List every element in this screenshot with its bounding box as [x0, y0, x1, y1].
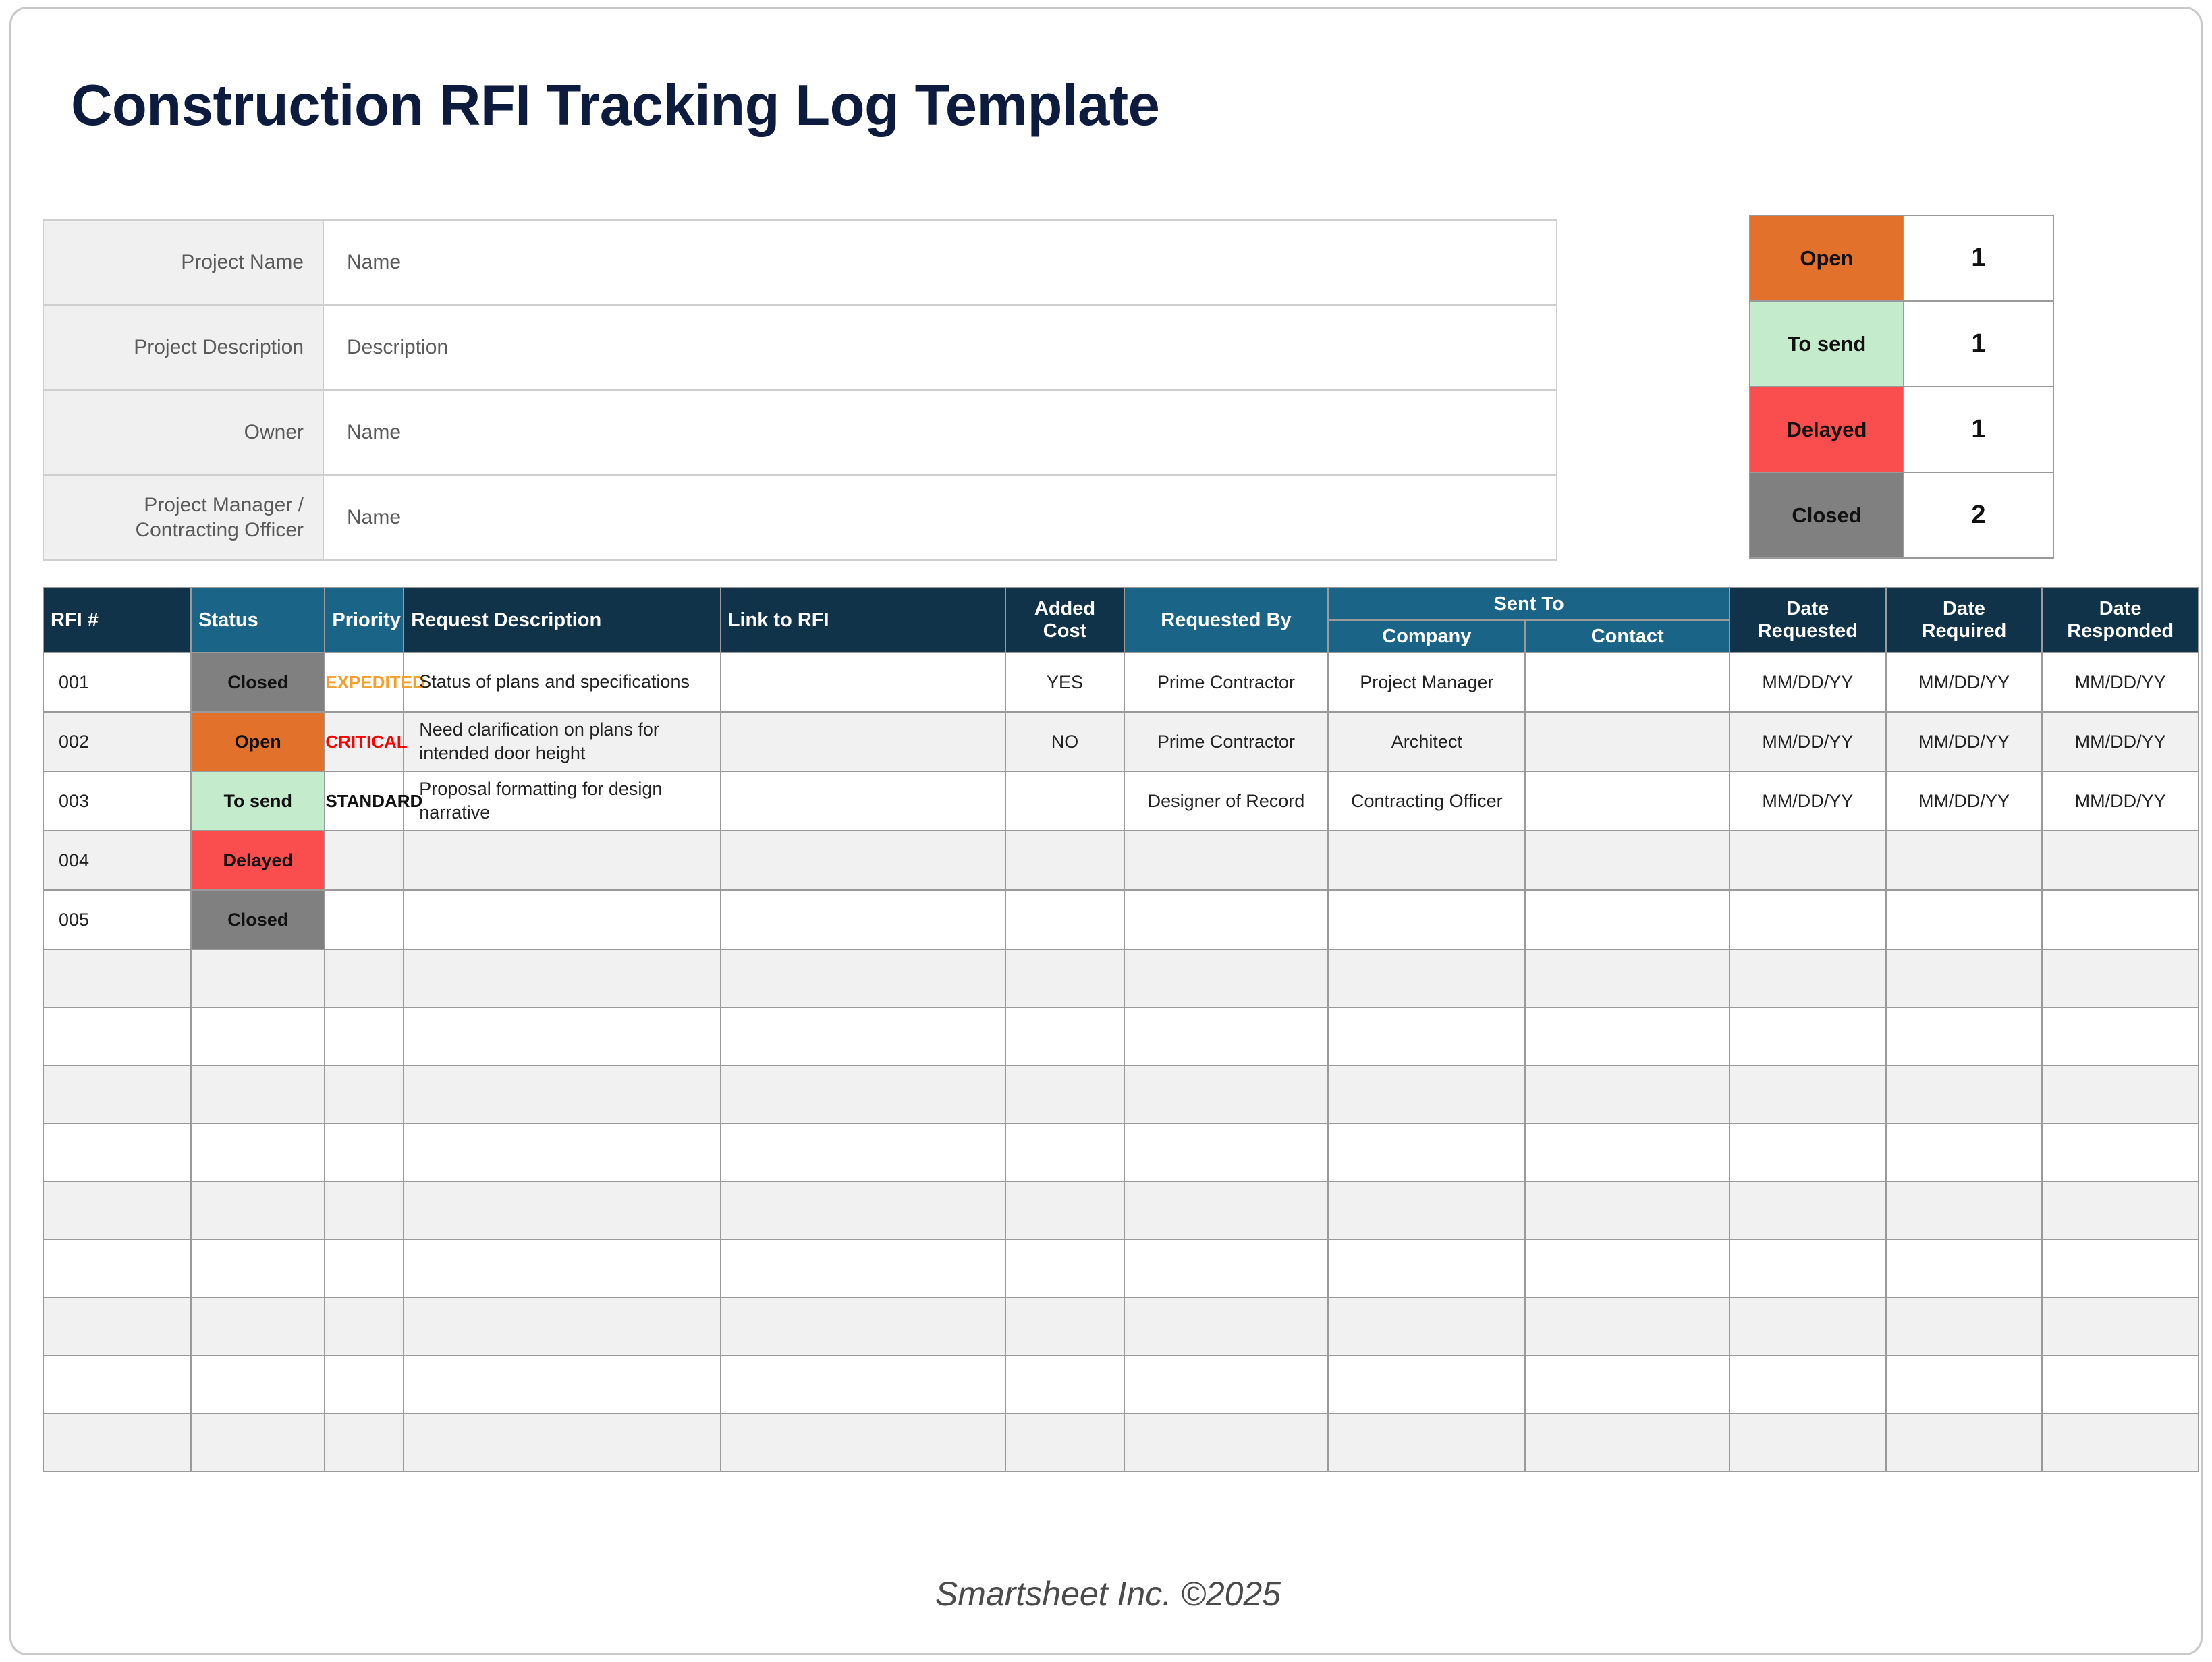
- cell-date-responded[interactable]: [2042, 949, 2199, 1007]
- cell-date-requested[interactable]: [1730, 1298, 1886, 1356]
- legend-row-closed: Closed 2: [1750, 472, 2053, 558]
- cell-added-cost[interactable]: [1005, 771, 1124, 831]
- cell-company[interactable]: [1328, 1182, 1525, 1240]
- cell-date-responded[interactable]: [2042, 1414, 2199, 1472]
- cell-requested-by[interactable]: [1124, 1182, 1329, 1240]
- header-contact[interactable]: Contact: [1525, 620, 1730, 653]
- cell-request-description[interactable]: Status of plans and specifications: [404, 653, 721, 712]
- cell-link-to-rfi[interactable]: [721, 831, 1006, 890]
- cell-contact[interactable]: [1525, 712, 1730, 771]
- cell-date-required[interactable]: [1886, 831, 2043, 890]
- legend-row-to-send: To send 1: [1750, 301, 2053, 387]
- header-priority[interactable]: Priority: [325, 588, 404, 653]
- cell-priority[interactable]: CRITICAL: [325, 712, 404, 771]
- cell-rfi-number[interactable]: [43, 1298, 191, 1356]
- cell-priority[interactable]: [325, 1414, 404, 1472]
- cell-priority[interactable]: [325, 1356, 404, 1414]
- header-sent-to[interactable]: Sent To: [1328, 588, 1730, 620]
- cell-contact[interactable]: [1525, 1124, 1730, 1182]
- cell-company[interactable]: [1328, 890, 1525, 949]
- header-date-required-l1: Date: [1943, 598, 1985, 619]
- cell-date-requested[interactable]: [1730, 1356, 1886, 1414]
- table-row: 004Delayed: [43, 831, 2199, 890]
- cell-link-to-rfi[interactable]: [721, 712, 1006, 771]
- cell-status[interactable]: [191, 1007, 325, 1065]
- cell-added-cost[interactable]: [1005, 1182, 1124, 1240]
- project-info-row: Project Name Name: [43, 220, 1557, 305]
- cell-contact[interactable]: [1525, 831, 1730, 890]
- cell-added-cost[interactable]: [1005, 1007, 1124, 1065]
- cell-status[interactable]: [191, 1182, 325, 1240]
- cell-link-to-rfi[interactable]: [721, 1182, 1006, 1240]
- cell-priority[interactable]: EXPEDITED: [325, 653, 404, 712]
- project-info-row: Owner Name: [43, 390, 1557, 475]
- table-row-empty: [43, 1124, 2199, 1182]
- cell-date-required[interactable]: [1886, 1240, 2043, 1298]
- legend-label-open: Open: [1750, 215, 1904, 301]
- cell-priority[interactable]: [325, 831, 404, 890]
- cell-link-to-rfi[interactable]: [721, 949, 1006, 1007]
- cell-date-responded[interactable]: [2042, 1356, 2199, 1414]
- cell-date-requested[interactable]: [1730, 1182, 1886, 1240]
- table-row-empty: [43, 1007, 2199, 1065]
- cell-date-responded[interactable]: MM/DD/YY: [2042, 653, 2199, 712]
- table-row: 002OpenCRITICALNeed clarification on pla…: [43, 712, 2199, 771]
- cell-status[interactable]: [191, 1065, 325, 1124]
- cell-status[interactable]: [191, 1240, 325, 1298]
- project-manager-label-l1: Project Manager /: [144, 494, 304, 516]
- cell-contact[interactable]: [1525, 1065, 1730, 1124]
- cell-requested-by[interactable]: Designer of Record: [1124, 771, 1329, 831]
- cell-contact[interactable]: [1525, 1356, 1730, 1414]
- cell-added-cost[interactable]: [1005, 949, 1124, 1007]
- cell-contact[interactable]: [1525, 949, 1730, 1007]
- cell-added-cost[interactable]: [1005, 831, 1124, 890]
- cell-rfi-number[interactable]: [43, 1414, 191, 1472]
- cell-requested-by[interactable]: [1124, 1240, 1329, 1298]
- cell-company[interactable]: [1328, 1356, 1525, 1414]
- cell-priority[interactable]: [325, 890, 404, 949]
- cell-rfi-number[interactable]: [43, 1356, 191, 1414]
- cell-date-requested[interactable]: MM/DD/YY: [1730, 653, 1886, 712]
- cell-requested-by[interactable]: [1124, 1007, 1329, 1065]
- cell-date-requested[interactable]: [1730, 1240, 1886, 1298]
- cell-status[interactable]: To send: [191, 771, 325, 831]
- cell-priority[interactable]: [325, 1124, 404, 1182]
- cell-requested-by[interactable]: [1124, 1124, 1329, 1182]
- rfi-header-row-1: RFI # Status Priority Request Descriptio…: [43, 588, 2199, 620]
- cell-date-required[interactable]: [1886, 949, 2043, 1007]
- rfi-table-body: 001ClosedEXPEDITEDStatus of plans and sp…: [43, 653, 2199, 1472]
- cell-link-to-rfi[interactable]: [721, 1298, 1006, 1356]
- cell-priority[interactable]: [325, 1007, 404, 1065]
- cell-requested-by[interactable]: [1124, 1356, 1329, 1414]
- cell-rfi-number[interactable]: 001: [43, 653, 191, 712]
- cell-company[interactable]: [1328, 949, 1525, 1007]
- project-name-value[interactable]: Name: [323, 220, 1557, 305]
- cell-link-to-rfi[interactable]: [721, 1240, 1006, 1298]
- cell-date-requested[interactable]: [1730, 949, 1886, 1007]
- legend-count-open: 1: [1904, 215, 2053, 301]
- cell-company[interactable]: Project Manager: [1328, 653, 1525, 712]
- cell-company[interactable]: [1328, 1007, 1525, 1065]
- header-request-description[interactable]: Request Description: [404, 588, 721, 653]
- cell-rfi-number[interactable]: 003: [43, 771, 191, 831]
- project-manager-label-l2: Contracting Officer: [135, 519, 304, 541]
- cell-rfi-number[interactable]: 004: [43, 831, 191, 890]
- cell-date-responded[interactable]: [2042, 1065, 2199, 1124]
- header-company[interactable]: Company: [1328, 620, 1525, 653]
- cell-date-required[interactable]: [1886, 1124, 2043, 1182]
- cell-link-to-rfi[interactable]: [721, 1065, 1006, 1124]
- status-badge: Delayed: [192, 831, 324, 889]
- cell-status[interactable]: Open: [191, 712, 325, 771]
- cell-priority[interactable]: STANDARD: [325, 771, 404, 831]
- cell-rfi-number[interactable]: [43, 949, 191, 1007]
- header-added-cost-l1: Added: [1034, 598, 1095, 619]
- cell-date-responded[interactable]: MM/DD/YY: [2042, 712, 2199, 771]
- project-manager-value[interactable]: Name: [323, 475, 1557, 560]
- cell-date-requested[interactable]: MM/DD/YY: [1730, 771, 1886, 831]
- table-row: 003To sendSTANDARDProposal formatting fo…: [43, 771, 2199, 831]
- header-date-requested-l2: Requested: [1758, 620, 1858, 642]
- cell-date-required[interactable]: [1886, 1356, 2043, 1414]
- project-info-row: Project Manager / Contracting Officer Na…: [43, 475, 1557, 560]
- cell-request-description[interactable]: [404, 1298, 721, 1356]
- cell-company[interactable]: [1328, 1240, 1525, 1298]
- header-requested-by[interactable]: Requested By: [1124, 588, 1329, 653]
- owner-label: Owner: [43, 390, 323, 475]
- cell-request-description[interactable]: [404, 831, 721, 890]
- header-status[interactable]: Status: [191, 588, 325, 653]
- header-date-required-l2: Required: [1922, 620, 2007, 642]
- status-badge: Closed: [192, 653, 324, 711]
- cell-date-required[interactable]: MM/DD/YY: [1886, 653, 2043, 712]
- page-card: Construction RFI Tracking Log Template P…: [9, 7, 2203, 1655]
- cell-added-cost[interactable]: YES: [1005, 653, 1124, 712]
- cell-priority[interactable]: [325, 1182, 404, 1240]
- cell-requested-by[interactable]: Prime Contractor: [1124, 653, 1329, 712]
- cell-company[interactable]: [1328, 1414, 1525, 1472]
- cell-company[interactable]: Contracting Officer: [1328, 771, 1525, 831]
- cell-requested-by[interactable]: [1124, 1065, 1329, 1124]
- cell-date-responded[interactable]: [2042, 831, 2199, 890]
- header-date-responded-l1: Date: [2099, 598, 2142, 619]
- cell-request-description[interactable]: Proposal formatting for design narrative: [404, 771, 721, 831]
- cell-rfi-number[interactable]: [43, 1124, 191, 1182]
- cell-contact[interactable]: [1525, 771, 1730, 831]
- cell-priority[interactable]: [325, 949, 404, 1007]
- cell-request-description[interactable]: [404, 949, 721, 1007]
- cell-date-requested[interactable]: [1730, 831, 1886, 890]
- table-row-empty: [43, 949, 2199, 1007]
- cell-date-required[interactable]: MM/DD/YY: [1886, 712, 2043, 771]
- cell-date-required[interactable]: [1886, 1414, 2043, 1472]
- cell-contact[interactable]: [1525, 1298, 1730, 1356]
- cell-link-to-rfi[interactable]: [721, 1007, 1006, 1065]
- cell-company[interactable]: [1328, 1298, 1525, 1356]
- header-date-responded[interactable]: Date Responded: [2042, 588, 2199, 653]
- legend-label-closed: Closed: [1750, 472, 1904, 558]
- cell-date-responded[interactable]: [2042, 890, 2199, 949]
- cell-date-responded[interactable]: MM/DD/YY: [2042, 771, 2199, 831]
- cell-request-description[interactable]: [404, 1124, 721, 1182]
- cell-contact[interactable]: [1525, 653, 1730, 712]
- status-legend-body: Open 1 To send 1 Delayed 1 Closed 2: [1750, 215, 2053, 558]
- project-info-row: Project Description Description: [43, 305, 1557, 390]
- table-row-empty: [43, 1414, 2199, 1472]
- cell-contact[interactable]: [1525, 1240, 1730, 1298]
- header-date-requested[interactable]: Date Requested: [1730, 588, 1886, 653]
- table-row-empty: [43, 1356, 2199, 1414]
- cell-date-required[interactable]: MM/DD/YY: [1886, 771, 2043, 831]
- cell-date-required[interactable]: [1886, 1065, 2043, 1124]
- project-description-value[interactable]: Description: [323, 305, 1557, 390]
- cell-requested-by[interactable]: [1124, 949, 1329, 1007]
- project-manager-label: Project Manager / Contracting Officer: [43, 475, 323, 560]
- header-link-to-rfi[interactable]: Link to RFI: [721, 588, 1006, 653]
- cell-requested-by[interactable]: [1124, 1298, 1329, 1356]
- page-title: Construction RFI Tracking Log Template: [71, 73, 1159, 139]
- header-date-required[interactable]: Date Required: [1886, 588, 2043, 653]
- cell-company[interactable]: [1328, 1124, 1525, 1182]
- header-date-requested-l1: Date: [1786, 598, 1829, 619]
- cell-request-description[interactable]: [404, 890, 721, 949]
- legend-label-to-send: To send: [1750, 301, 1904, 387]
- project-info-table: Project Name Name Project Description De…: [43, 219, 1557, 561]
- cell-date-requested[interactable]: MM/DD/YY: [1730, 712, 1886, 771]
- status-badge: To send: [192, 772, 324, 830]
- cell-rfi-number[interactable]: 002: [43, 712, 191, 771]
- status-legend: Open 1 To send 1 Delayed 1 Closed 2: [1749, 215, 2054, 559]
- cell-status[interactable]: [191, 1414, 325, 1472]
- cell-link-to-rfi[interactable]: [721, 1124, 1006, 1182]
- cell-added-cost[interactable]: NO: [1005, 712, 1124, 771]
- cell-priority[interactable]: [325, 1065, 404, 1124]
- table-row: 005Closed: [43, 890, 2199, 949]
- rfi-tracking-table: RFI # Status Priority Request Descriptio…: [43, 587, 2199, 1472]
- status-badge: Closed: [192, 891, 324, 949]
- cell-request-description[interactable]: Need clarification on plans for intended…: [404, 712, 721, 771]
- table-row-empty: [43, 1298, 2199, 1356]
- table-row-empty: [43, 1240, 2199, 1298]
- cell-rfi-number[interactable]: [43, 1182, 191, 1240]
- cell-company[interactable]: Architect: [1328, 712, 1525, 771]
- cell-added-cost[interactable]: [1005, 1065, 1124, 1124]
- cell-date-responded[interactable]: [2042, 1298, 2199, 1356]
- cell-rfi-number[interactable]: [43, 1007, 191, 1065]
- cell-date-requested[interactable]: [1730, 1007, 1886, 1065]
- cell-rfi-number[interactable]: [43, 1240, 191, 1298]
- cell-contact[interactable]: [1525, 1182, 1730, 1240]
- cell-rfi-number[interactable]: 005: [43, 890, 191, 949]
- cell-status[interactable]: [191, 1124, 325, 1182]
- cell-added-cost[interactable]: [1005, 1298, 1124, 1356]
- cell-status[interactable]: [191, 1298, 325, 1356]
- cell-date-required[interactable]: [1886, 1182, 2043, 1240]
- cell-request-description[interactable]: [404, 1182, 721, 1240]
- cell-date-responded[interactable]: [2042, 1182, 2199, 1240]
- status-badge: Open: [192, 713, 324, 771]
- cell-request-description[interactable]: [404, 1240, 721, 1298]
- cell-priority[interactable]: [325, 1298, 404, 1356]
- cell-added-cost[interactable]: [1005, 890, 1124, 949]
- header-added-cost[interactable]: Added Cost: [1005, 588, 1124, 653]
- cell-status[interactable]: Closed: [191, 653, 325, 712]
- legend-row-delayed: Delayed 1: [1750, 387, 2053, 472]
- cell-request-description[interactable]: [404, 1065, 721, 1124]
- table-row-empty: [43, 1182, 2199, 1240]
- cell-link-to-rfi[interactable]: [721, 771, 1006, 831]
- legend-count-closed: 2: [1904, 472, 2053, 558]
- cell-date-requested[interactable]: [1730, 890, 1886, 949]
- cell-added-cost[interactable]: [1005, 1356, 1124, 1414]
- cell-date-responded[interactable]: [2042, 1007, 2199, 1065]
- table-row: 001ClosedEXPEDITEDStatus of plans and sp…: [43, 653, 2199, 712]
- cell-date-requested[interactable]: [1730, 1124, 1886, 1182]
- cell-requested-by[interactable]: [1124, 890, 1329, 949]
- rfi-table-head: RFI # Status Priority Request Descriptio…: [43, 588, 2199, 653]
- table-row-empty: [43, 1065, 2199, 1124]
- project-info-body: Project Name Name Project Description De…: [43, 220, 1557, 560]
- legend-count-to-send: 1: [1904, 301, 2053, 387]
- cell-contact[interactable]: [1525, 890, 1730, 949]
- legend-label-delayed: Delayed: [1750, 387, 1904, 472]
- project-name-label: Project Name: [43, 220, 323, 305]
- cell-date-responded[interactable]: [2042, 1124, 2199, 1182]
- cell-status[interactable]: [191, 1356, 325, 1414]
- cell-date-required[interactable]: [1886, 890, 2043, 949]
- footer-copyright: Smartsheet Inc. ©2025: [11, 1574, 2203, 1613]
- cell-request-description[interactable]: [404, 1414, 721, 1472]
- legend-row-open: Open 1: [1750, 215, 2053, 301]
- cell-request-description[interactable]: [404, 1007, 721, 1065]
- cell-link-to-rfi[interactable]: [721, 1414, 1006, 1472]
- cell-contact[interactable]: [1525, 1414, 1730, 1472]
- project-description-label: Project Description: [43, 305, 323, 390]
- cell-request-description[interactable]: [404, 1356, 721, 1414]
- cell-added-cost[interactable]: [1005, 1240, 1124, 1298]
- cell-date-requested[interactable]: [1730, 1414, 1886, 1472]
- cell-status[interactable]: Delayed: [191, 831, 325, 890]
- cell-company[interactable]: [1328, 831, 1525, 890]
- cell-requested-by[interactable]: [1124, 831, 1329, 890]
- cell-rfi-number[interactable]: [43, 1065, 191, 1124]
- cell-added-cost[interactable]: [1005, 1124, 1124, 1182]
- cell-added-cost[interactable]: [1005, 1414, 1124, 1472]
- cell-priority[interactable]: [325, 1240, 404, 1298]
- cell-contact[interactable]: [1525, 1007, 1730, 1065]
- cell-date-requested[interactable]: [1730, 1065, 1886, 1124]
- legend-count-delayed: 1: [1904, 387, 2053, 472]
- cell-requested-by[interactable]: [1124, 1414, 1329, 1472]
- cell-link-to-rfi[interactable]: [721, 653, 1006, 712]
- cell-status[interactable]: Closed: [191, 890, 325, 949]
- cell-company[interactable]: [1328, 1065, 1525, 1124]
- header-added-cost-l2: Cost: [1043, 620, 1086, 642]
- cell-requested-by[interactable]: Prime Contractor: [1124, 712, 1329, 771]
- cell-date-required[interactable]: [1886, 1007, 2043, 1065]
- cell-link-to-rfi[interactable]: [721, 890, 1006, 949]
- owner-value[interactable]: Name: [323, 390, 1557, 475]
- header-rfi-number[interactable]: RFI #: [43, 588, 191, 653]
- cell-date-responded[interactable]: [2042, 1240, 2199, 1298]
- cell-status[interactable]: [191, 949, 325, 1007]
- cell-date-required[interactable]: [1886, 1298, 2043, 1356]
- cell-link-to-rfi[interactable]: [721, 1356, 1006, 1414]
- header-date-responded-l2: Responded: [2067, 620, 2174, 642]
